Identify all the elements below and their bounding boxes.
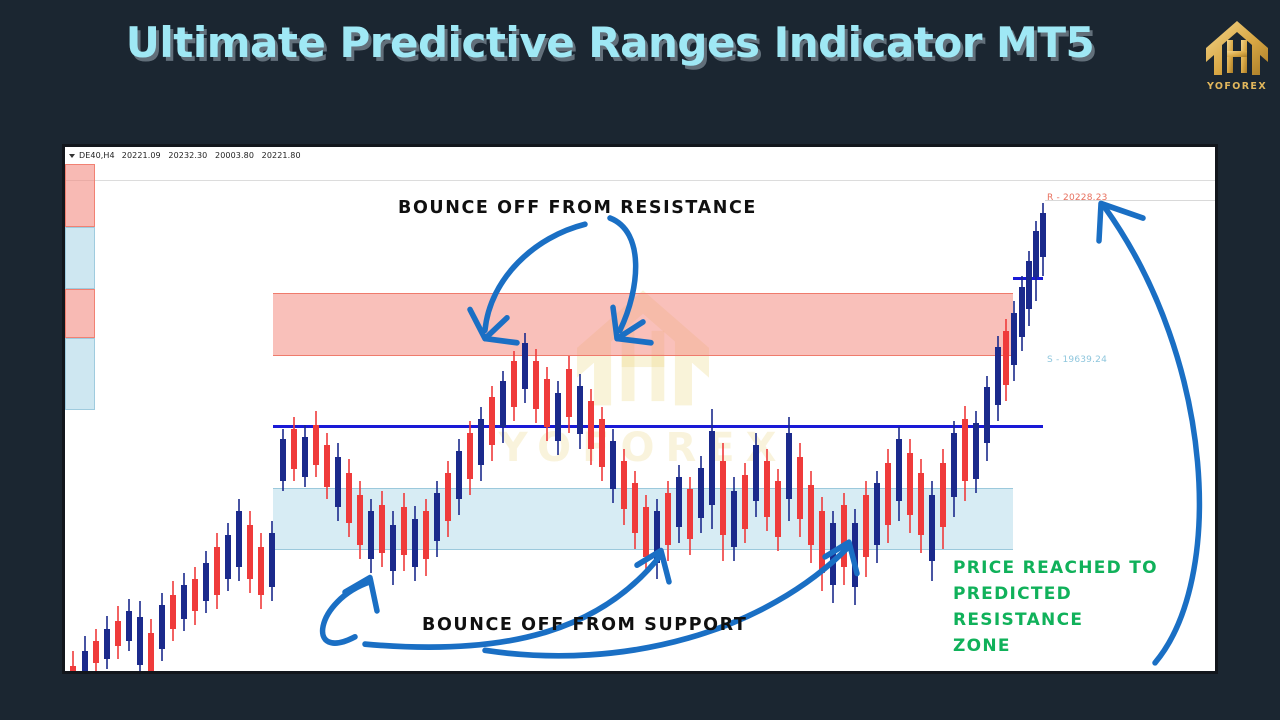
chart-panel[interactable]: DE40,H4 20221.09 20232.30 20003.80 20221… [62, 144, 1218, 674]
annotation-price-reached-line2: PREDICTED [953, 581, 1072, 607]
page-root: Ultimate Predictive Ranges Indicator MT5… [0, 0, 1280, 720]
chevron-down-icon[interactable] [69, 154, 75, 158]
annotation-bounce-support: BOUNCE OFF FROM SUPPORT [422, 615, 747, 635]
annotation-price-reached-line1: PRICE REACHED TO [953, 555, 1158, 581]
logo-brand-text: YOFOREX [1202, 81, 1272, 92]
annotation-price-reached-line4: ZONE [953, 633, 1011, 659]
annotation-bounce-resistance: BOUNCE OFF FROM RESISTANCE [398, 198, 757, 218]
header: Ultimate Predictive Ranges Indicator MT5… [0, 0, 1280, 118]
yoforex-arrow-icon [1202, 18, 1272, 80]
yoforex-logo: YOFOREX [1202, 18, 1272, 100]
page-title: Ultimate Predictive Ranges Indicator MT5 [60, 18, 1160, 67]
ohlc-high: 20232.30 [168, 151, 207, 160]
ohlc-close: 20221.80 [262, 151, 301, 160]
annotation-price-reached-line3: RESISTANCE [953, 607, 1083, 633]
chart-info-bar: DE40,H4 20221.09 20232.30 20003.80 20221… [65, 147, 1215, 164]
chart-symbol-label: DE40,H4 [79, 151, 115, 160]
chart-ohlc-values: 20221.09 20232.30 20003.80 20221.80 [122, 151, 306, 160]
ohlc-open: 20221.09 [122, 151, 161, 160]
ohlc-low: 20003.80 [215, 151, 254, 160]
